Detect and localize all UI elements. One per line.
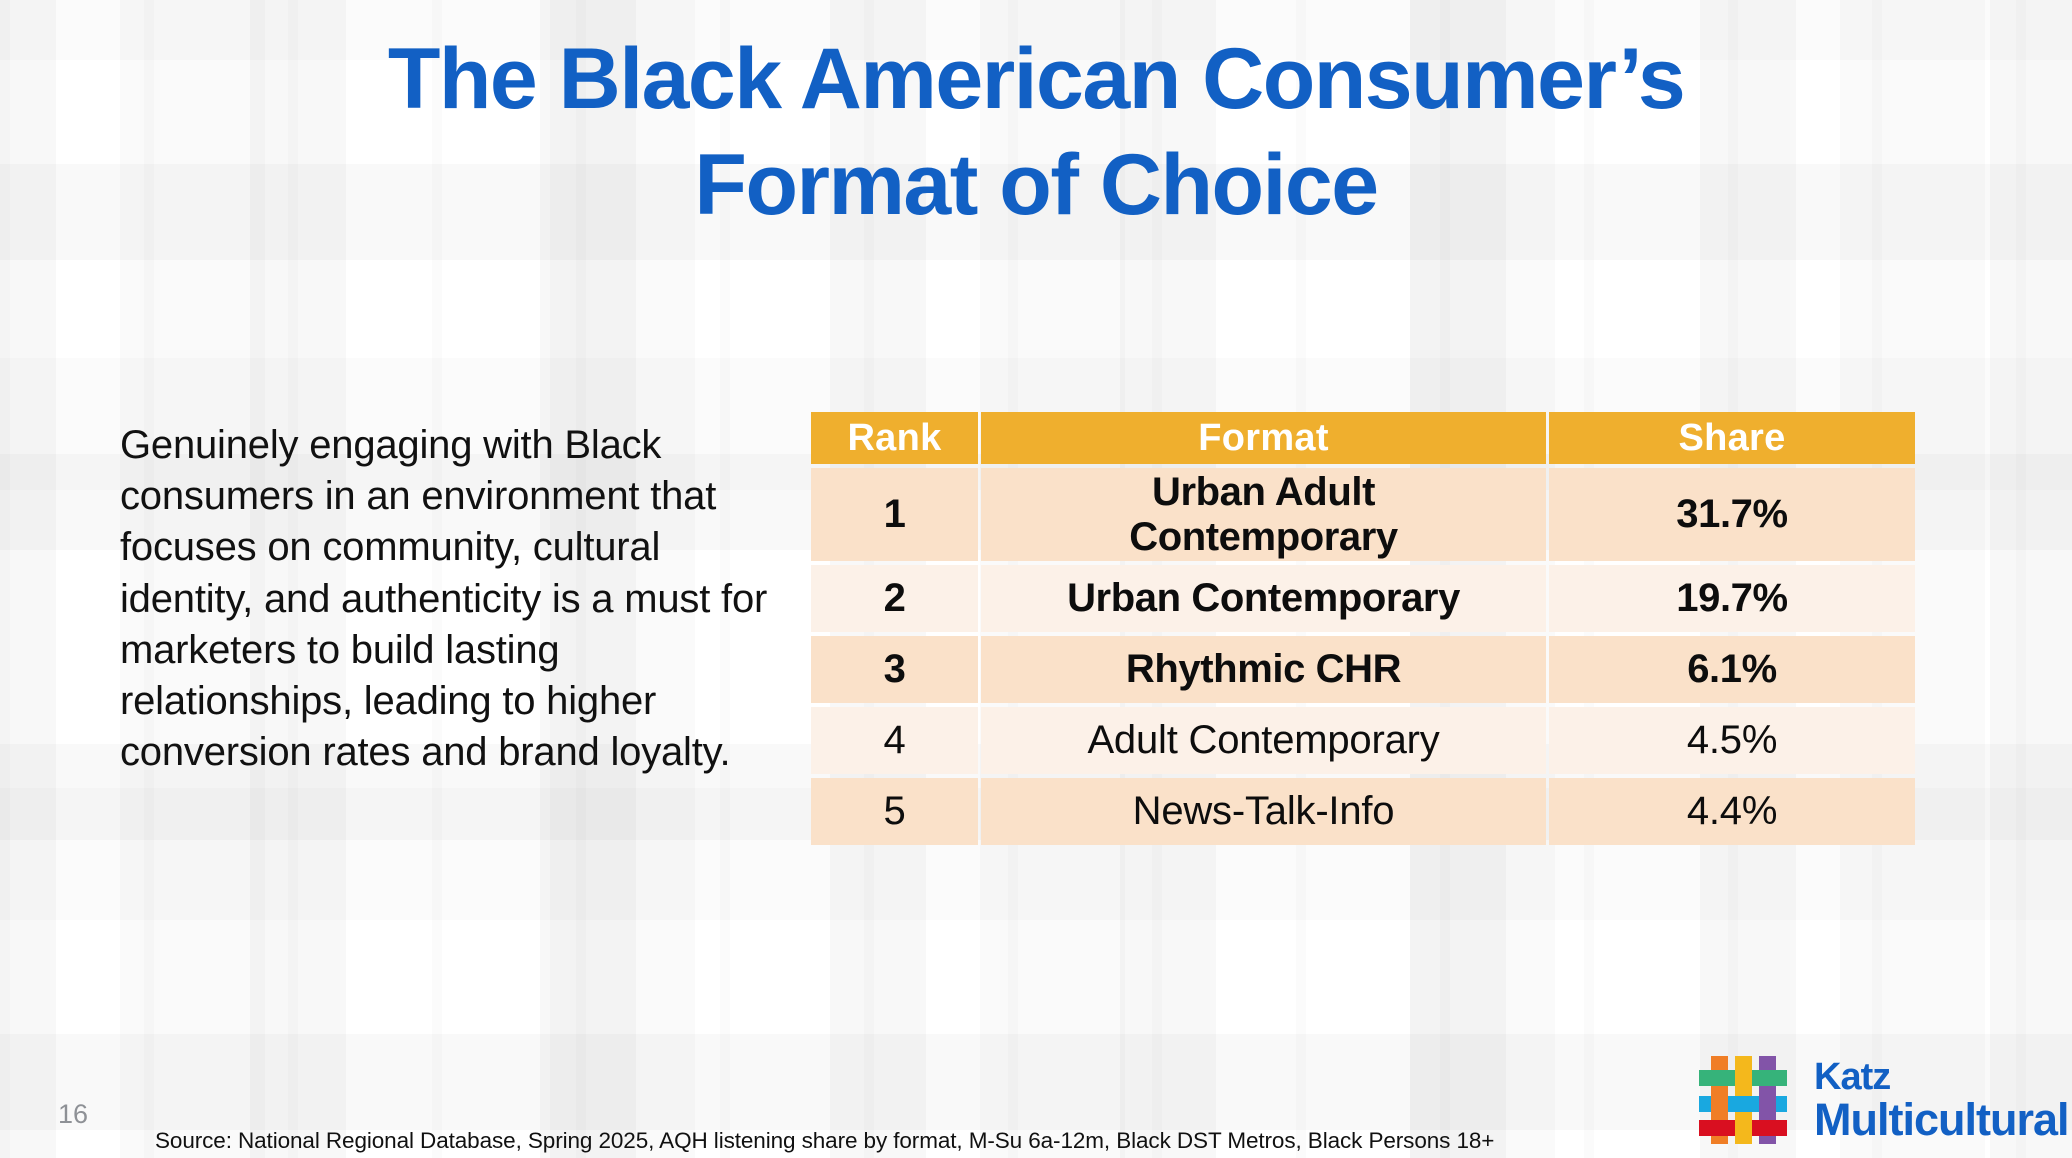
cell-format: Urban Adult Contemporary [981, 468, 1546, 561]
table-row: 2 Urban Contemporary 19.7% [811, 565, 1915, 632]
cell-format-line-1: Urban Adult [981, 470, 1546, 515]
cell-rank: 5 [811, 778, 978, 845]
table-row: 3 Rhythmic CHR 6.1% [811, 636, 1915, 703]
column-header-rank: Rank [811, 412, 978, 464]
cell-share: 19.7% [1549, 565, 1915, 632]
table-row: 5 News-Talk-Info 4.4% [811, 778, 1915, 845]
slide-title: The Black American Consumer’s Format of … [0, 36, 2072, 228]
cell-format: Rhythmic CHR [981, 636, 1546, 703]
woven-grid-icon [1697, 1054, 1793, 1146]
cell-share: 6.1% [1549, 636, 1915, 703]
table-header: Rank Format Share [811, 412, 1915, 464]
slide-canvas: The Black American Consumer’s Format of … [0, 0, 2072, 1158]
table-header-row: Rank Format Share [811, 412, 1915, 464]
body-paragraph: Genuinely engaging with Black consumers … [120, 420, 780, 778]
cell-share: 4.4% [1549, 778, 1915, 845]
cell-format: News-Talk-Info [981, 778, 1546, 845]
source-note: Source: National Regional Database, Spri… [155, 1128, 1494, 1154]
cell-share: 31.7% [1549, 468, 1915, 561]
cell-rank: 2 [811, 565, 978, 632]
cell-share: 4.5% [1549, 707, 1915, 774]
format-share-table: Rank Format Share 1 Urban Adult Contempo… [808, 408, 1918, 849]
cell-rank: 4 [811, 707, 978, 774]
column-header-format: Format [981, 412, 1546, 464]
slide-title-line-1: The Black American Consumer’s [0, 36, 2072, 122]
column-header-share: Share [1549, 412, 1915, 464]
cell-rank: 3 [811, 636, 978, 703]
cell-format: Urban Contemporary [981, 565, 1546, 632]
logo-wordmark: Katz Multicultural [1814, 1058, 2069, 1143]
cell-format: Adult Contemporary [981, 707, 1546, 774]
logo-name-line-2: Multicultural [1814, 1097, 2069, 1143]
slide-title-line-2: Format of Choice [0, 142, 2072, 228]
page-number: 16 [58, 1099, 88, 1130]
brand-logo: Katz Multicultural [1697, 1052, 2057, 1152]
logo-name-line-1: Katz [1814, 1058, 2069, 1097]
table-row: 4 Adult Contemporary 4.5% [811, 707, 1915, 774]
table-row: 1 Urban Adult Contemporary 31.7% [811, 468, 1915, 561]
cell-format-line-2: Contemporary [981, 515, 1546, 560]
table-body: 1 Urban Adult Contemporary 31.7% 2 Urban… [811, 468, 1915, 845]
cell-rank: 1 [811, 468, 978, 561]
